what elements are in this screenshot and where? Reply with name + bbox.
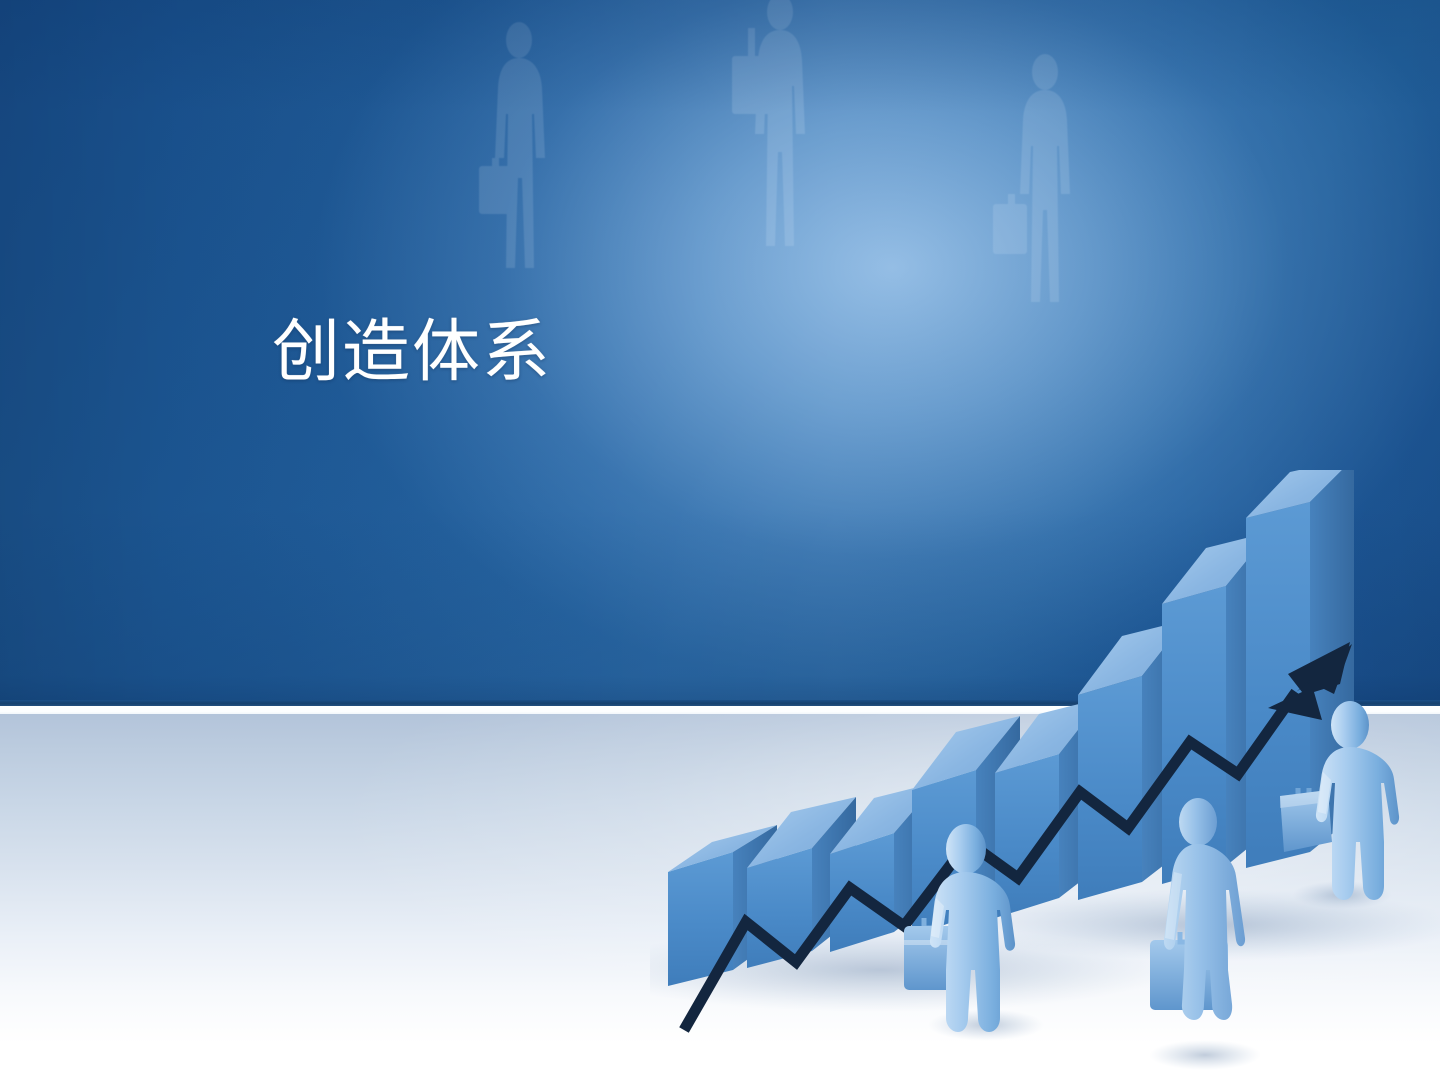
ground-sheen-overlay: [0, 714, 1440, 1080]
ghost-businessman-center-icon: [726, 0, 826, 269]
sky-background: [0, 0, 1440, 704]
ghost-businessman-left-icon: [475, 18, 565, 283]
sky-vignette-overlay: [0, 0, 1440, 704]
slide-canvas: 创造体系: [0, 0, 1440, 1080]
sky-sheen-overlay: [0, 0, 1440, 704]
slide-title: 创造体系: [272, 310, 552, 394]
ghost-businessman-right-icon: [985, 52, 1080, 317]
ground-surface: [0, 714, 1440, 1080]
